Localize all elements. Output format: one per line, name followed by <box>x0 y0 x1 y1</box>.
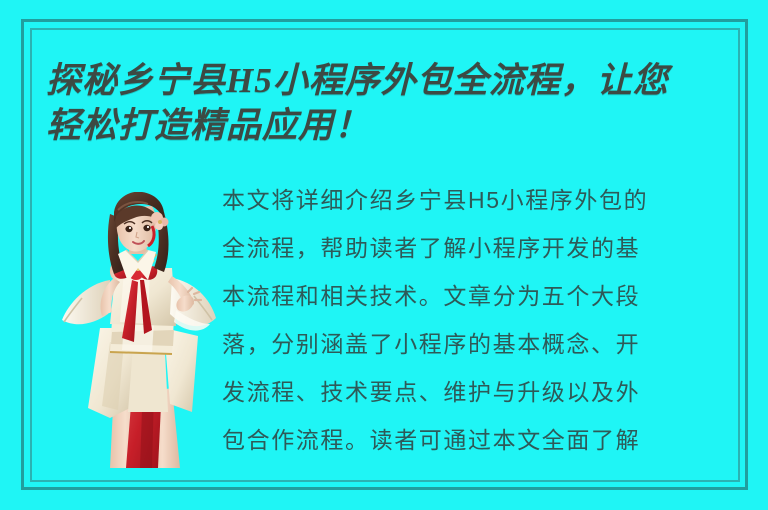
body-line-2: 全流程，帮助读者了解小程序开发的基 <box>222 224 732 272</box>
body-line-3: 本流程和相关技术。文章分为五个大段 <box>222 272 732 320</box>
body-line-5: 发流程、技术要点、维护与升级以及外 <box>222 368 732 416</box>
anime-girl-hanfu-illustration <box>52 192 224 468</box>
page-title: 探秘乡宁县H5小程序外包全流程，让您 轻松打造精品应用！ <box>46 58 726 148</box>
body-line-4: 落，分别涵盖了小程序的基本概念、开 <box>222 320 732 368</box>
article-banner: 探秘乡宁县H5小程序外包全流程，让您 轻松打造精品应用！ <box>0 0 768 510</box>
title-line-2: 轻松打造精品应用！ <box>46 103 726 148</box>
body-line-6: 包合作流程。读者可通过本文全面了解 <box>222 416 732 464</box>
title-line-1: 探秘乡宁县H5小程序外包全流程，让您 <box>46 58 726 103</box>
body-line-1: 本文将详细介绍乡宁县H5小程序外包的 <box>222 176 732 224</box>
article-summary: 本文将详细介绍乡宁县H5小程序外包的 全流程，帮助读者了解小程序开发的基 本流程… <box>222 176 732 464</box>
